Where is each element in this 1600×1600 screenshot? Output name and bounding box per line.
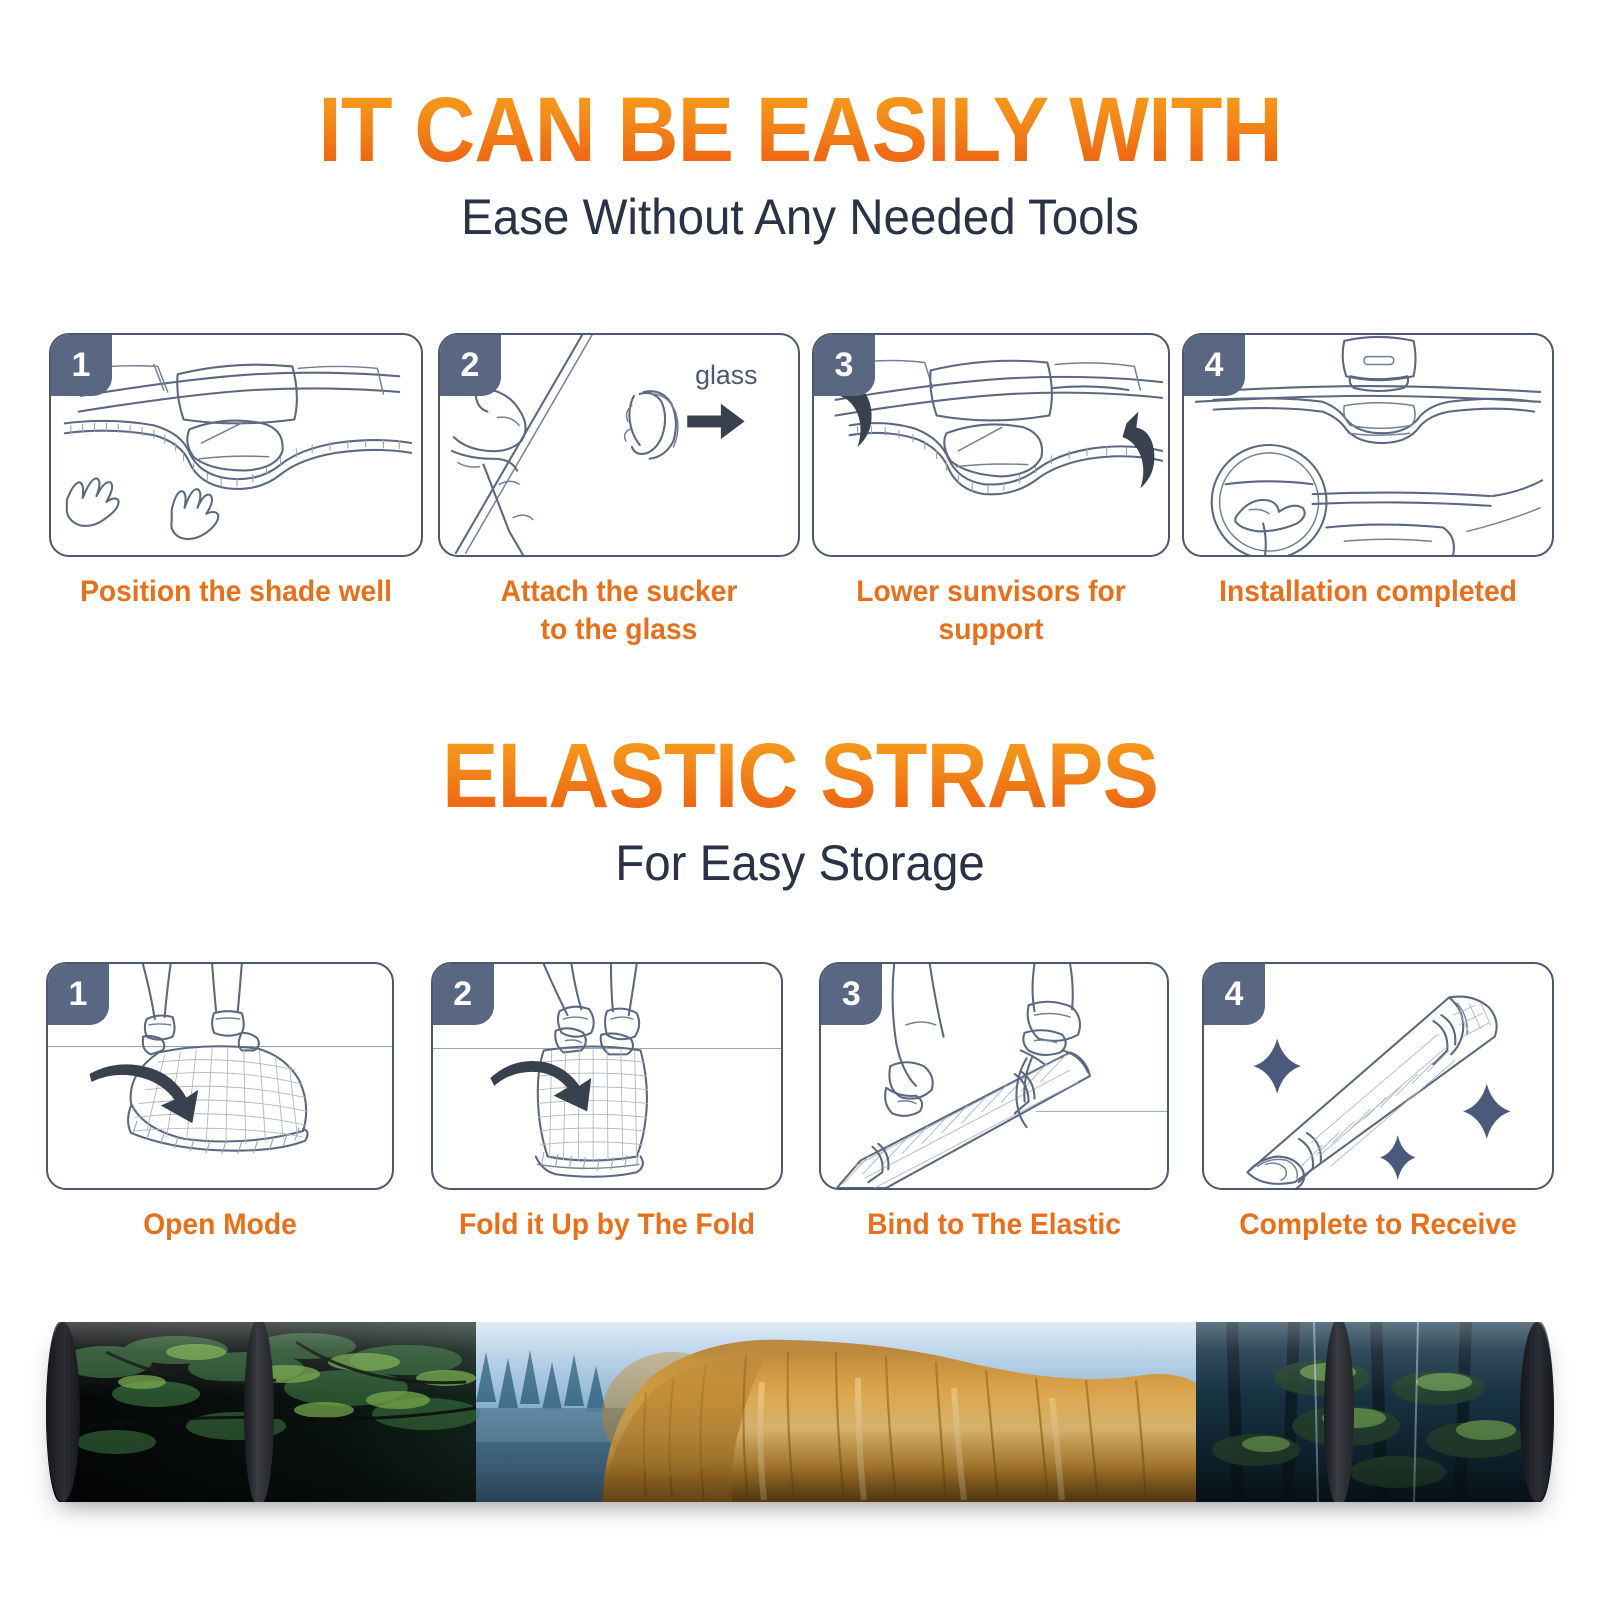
step-card-install-1[interactable]: 1 bbox=[49, 333, 423, 557]
step-card-storage-1[interactable]: 1 bbox=[46, 962, 394, 1190]
step-caption: Complete to Receive bbox=[1213, 1206, 1544, 1244]
section-subtitle-storage: For Easy Storage bbox=[40, 836, 1560, 891]
infographic-page: IT CAN BE EASILY WITH Ease Without Any N… bbox=[0, 0, 1600, 1600]
step-caption: Fold it Up by The Fold bbox=[437, 1206, 775, 1244]
step-card-install-2[interactable]: 2 bbox=[438, 333, 800, 557]
step-card-storage-4[interactable]: 4 bbox=[1202, 962, 1554, 1190]
step-caption: Lower sunvisors for support bbox=[836, 573, 1146, 648]
product-photo-section bbox=[0, 1322, 1600, 1502]
step-caption: Open Mode bbox=[56, 1206, 383, 1244]
step-number-badge: 3 bbox=[820, 963, 882, 1025]
glass-label-text: glass bbox=[695, 360, 757, 390]
step-storage-3: 3 bbox=[819, 962, 1169, 1244]
section-title-storage: ELASTIC STRAPS bbox=[64, 730, 1536, 822]
section-subtitle-installation: Ease Without Any Needed Tools bbox=[40, 190, 1560, 245]
step-caption: Installation completed bbox=[1193, 573, 1543, 611]
roll-end-cap-right bbox=[1520, 1322, 1554, 1502]
section-title-installation: IT CAN BE EASILY WITH bbox=[64, 84, 1536, 176]
roll-end-cap-left bbox=[46, 1322, 80, 1502]
step-number-badge: 4 bbox=[1203, 963, 1265, 1025]
step-storage-1: 1 bbox=[46, 962, 394, 1244]
step-caption: Attach the sucker to the glass bbox=[459, 573, 779, 648]
step-card-storage-2[interactable]: 2 bbox=[431, 962, 783, 1190]
step-install-2: 2 bbox=[438, 333, 800, 648]
step-number-badge: 1 bbox=[47, 963, 109, 1025]
elastic-band-right bbox=[1324, 1322, 1354, 1502]
step-number-badge: 4 bbox=[1183, 334, 1245, 396]
step-storage-2: 2 bbox=[427, 962, 787, 1244]
step-storage-4: 4 bbox=[1202, 962, 1554, 1244]
step-install-4: 4 bbox=[1182, 333, 1554, 648]
step-install-3: 3 bbox=[812, 333, 1170, 648]
step-card-install-4[interactable]: 4 bbox=[1182, 333, 1554, 557]
storage-heading-block: ELASTIC STRAPS For Easy Storage bbox=[0, 730, 1600, 891]
step-number-badge: 2 bbox=[439, 334, 501, 396]
installation-heading-block: IT CAN BE EASILY WITH Ease Without Any N… bbox=[0, 84, 1600, 245]
installation-steps-row: 1 bbox=[0, 333, 1600, 648]
step-caption: Position the shade well bbox=[57, 573, 414, 611]
step-caption: Bind to The Elastic bbox=[835, 1206, 1155, 1244]
step-install-1: 1 bbox=[46, 333, 426, 648]
storage-steps-row: 1 bbox=[0, 962, 1600, 1244]
step-card-storage-3[interactable]: 3 bbox=[819, 962, 1169, 1190]
step-number-badge: 2 bbox=[432, 963, 494, 1025]
step-number-badge: 1 bbox=[50, 334, 112, 396]
rolled-sunshade-photo bbox=[46, 1322, 1554, 1502]
step-card-install-3[interactable]: 3 bbox=[812, 333, 1170, 557]
elastic-band-left bbox=[244, 1322, 274, 1502]
step-number-badge: 3 bbox=[813, 334, 875, 396]
